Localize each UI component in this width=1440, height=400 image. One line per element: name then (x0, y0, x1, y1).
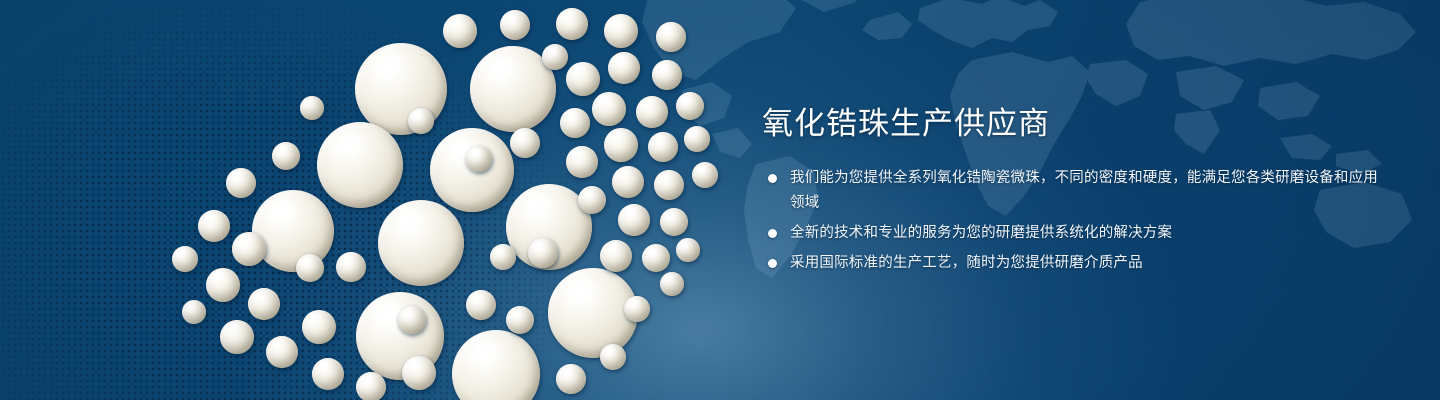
list-item: 采用国际标准的生产工艺，随时为您提供研磨介质产品 (762, 251, 1382, 276)
bullet-dot-icon (768, 259, 777, 268)
bullet-dot-icon (768, 174, 777, 183)
bullet-dot-icon (768, 229, 777, 238)
page-title: 氧化锆珠生产供应商 (762, 104, 1382, 144)
list-item: 我们能为您提供全系列氧化锆陶瓷微珠，不同的密度和硬度，能满足您各类研磨设备和应用… (762, 166, 1382, 216)
list-item-label: 全新的技术和专业的服务为您的研磨提供系统化的解决方案 (790, 225, 1172, 241)
hero-banner: 氧化锆珠生产供应商 我们能为您提供全系列氧化锆陶瓷微珠，不同的密度和硬度，能满足… (0, 0, 1440, 400)
list-item: 全新的技术和专业的服务为您的研磨提供系统化的解决方案 (762, 221, 1382, 246)
list-item-label: 我们能为您提供全系列氧化锆陶瓷微珠，不同的密度和硬度，能满足您各类研磨设备和应用… (790, 170, 1378, 211)
feature-list: 我们能为您提供全系列氧化锆陶瓷微珠，不同的密度和硬度，能满足您各类研磨设备和应用… (762, 166, 1382, 276)
hero-text-block: 氧化锆珠生产供应商 我们能为您提供全系列氧化锆陶瓷微珠，不同的密度和硬度，能满足… (762, 104, 1382, 281)
list-item-label: 采用国际标准的生产工艺，随时为您提供研磨介质产品 (790, 255, 1143, 271)
